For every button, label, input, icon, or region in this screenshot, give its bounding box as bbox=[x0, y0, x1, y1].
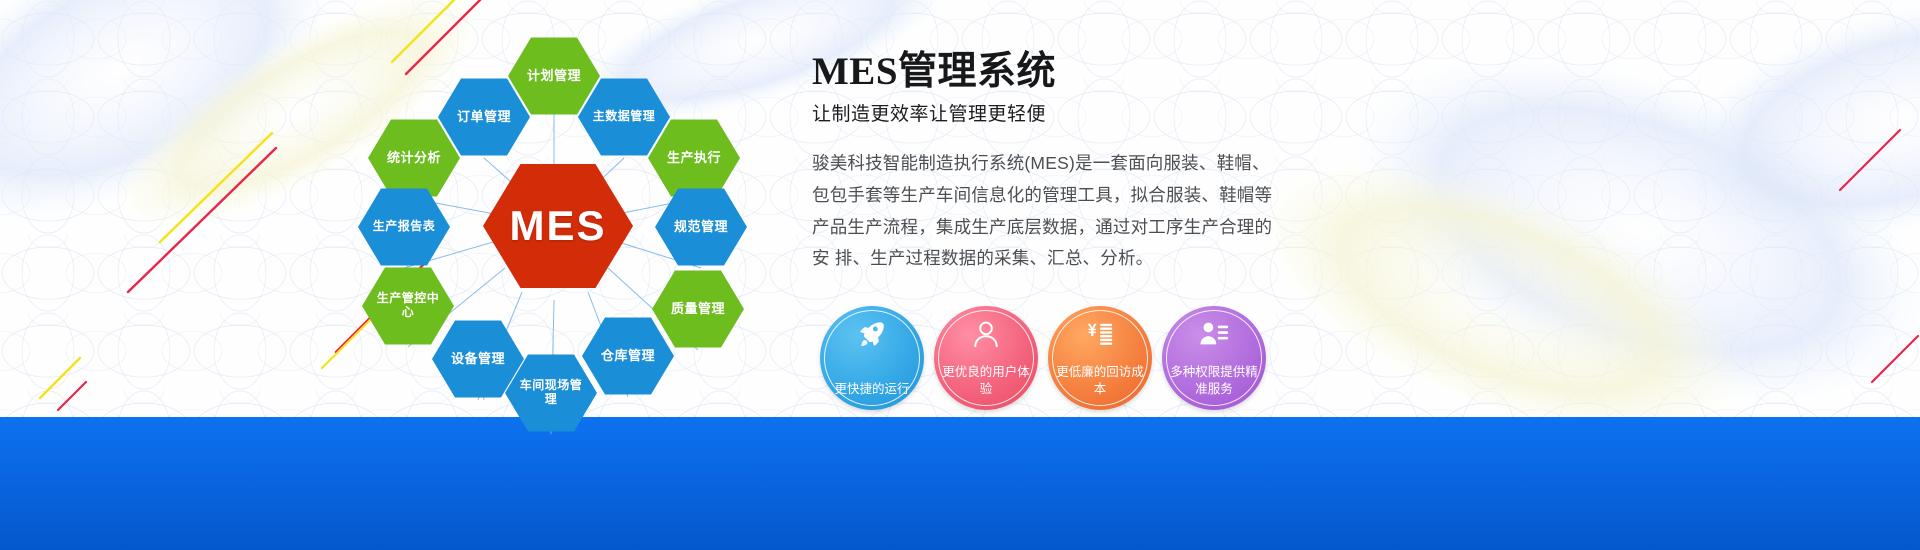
coins-icon bbox=[1085, 319, 1115, 349]
feature-circle-3[interactable]: 更低廉的回访成本 bbox=[1048, 306, 1152, 410]
hex-node-label: 计划管理 bbox=[527, 69, 581, 84]
hex-node-label: 统计分析 bbox=[387, 151, 441, 166]
hex-node-center[interactable]: MES bbox=[483, 160, 633, 292]
feature-circle-list: 更快捷的运行更优良的用户体验更低廉的回访成本多种权限提供精准服务 bbox=[820, 306, 1290, 416]
banner-text-column: MES管理系统 让制造更效率让管理更轻便 骏美科技智能制造执行系统(MES)是一… bbox=[812, 52, 1282, 275]
hex-node-label: 生产执行 bbox=[667, 151, 721, 166]
feature-circle-label: 更快捷的运行 bbox=[826, 381, 918, 398]
hex-node-8[interactable]: 生产管控中心 bbox=[362, 265, 454, 347]
hex-node-label: 生产报告表 bbox=[372, 220, 436, 234]
mes-hex-diagram: MES 计划管理订单管理主数据管理统计分析生产执行生产报告表规范管理生产管控中心… bbox=[0, 0, 800, 450]
page-title: MES管理系统 bbox=[812, 52, 1282, 93]
feature-circle-label: 多种权限提供精准服务 bbox=[1168, 364, 1260, 398]
feature-circle-label: 更优良的用户体验 bbox=[940, 364, 1032, 398]
page-subtitle: 让制造更效率让管理更轻便 bbox=[812, 99, 1282, 126]
hex-node-label: 规范管理 bbox=[674, 220, 728, 235]
user-icon bbox=[971, 319, 1001, 349]
user-list-icon bbox=[1199, 319, 1229, 349]
hex-node-9[interactable]: 质量管理 bbox=[652, 268, 744, 350]
hex-node-6[interactable]: 生产报告表 bbox=[358, 186, 450, 268]
feature-circle-2[interactable]: 更优良的用户体验 bbox=[934, 306, 1038, 410]
hex-node-label: 主数据管理 bbox=[592, 110, 656, 124]
hex-node-11[interactable]: 仓库管理 bbox=[582, 315, 674, 397]
hex-node-label: 仓库管理 bbox=[601, 349, 655, 364]
hex-node-label: 订单管理 bbox=[457, 110, 511, 125]
hex-node-7[interactable]: 规范管理 bbox=[655, 186, 747, 268]
hex-center-label: MES bbox=[509, 202, 606, 250]
feature-circle-1[interactable]: 更快捷的运行 bbox=[820, 306, 924, 410]
banner-root: MES 计划管理订单管理主数据管理统计分析生产执行生产报告表规范管理生产管控中心… bbox=[0, 0, 1920, 550]
feature-circle-label: 更低廉的回访成本 bbox=[1054, 364, 1146, 398]
hex-node-label: 设备管理 bbox=[451, 352, 505, 367]
rocket-icon bbox=[857, 319, 887, 349]
page-description: 骏美科技智能制造执行系统(MES)是一套面向服装、鞋帽、包包手套等生产车间信息化… bbox=[812, 148, 1282, 275]
feature-circle-4[interactable]: 多种权限提供精准服务 bbox=[1162, 306, 1266, 410]
hex-node-label: 质量管理 bbox=[671, 302, 725, 317]
hex-node-label: 车间现场管理 bbox=[519, 379, 583, 407]
hex-node-label: 生产管控中心 bbox=[376, 292, 440, 320]
